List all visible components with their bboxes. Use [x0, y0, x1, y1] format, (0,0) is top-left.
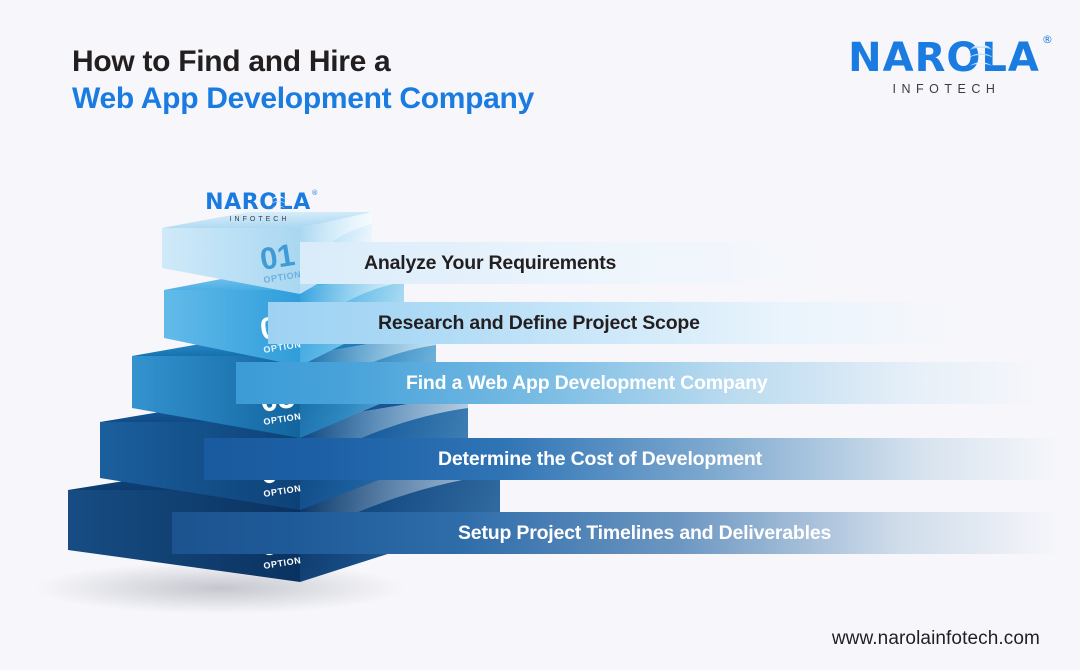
brand-logo-tagline: INFOTECH	[840, 82, 1048, 96]
footer-website-url: www.narolainfotech.com	[832, 628, 1040, 650]
step-ribbon-05: Setup Project Timelines and Deliverables	[172, 512, 1080, 554]
pyramid-brand-logo: NAROLA ® INFOTECH	[197, 192, 319, 223]
step-title-03: Find a Web App Development Company	[406, 372, 768, 395]
brand-logo-name: NAROLA	[848, 35, 1040, 81]
pyramid-brand-tagline: INFOTECH	[197, 216, 319, 223]
page-title: How to Find and Hire a Web App Developme…	[72, 44, 534, 117]
step-title-02: Research and Define Project Scope	[378, 312, 700, 335]
step-title-01: Analyze Your Requirements	[364, 252, 616, 275]
pyramid-brand-wordmark: NAROLA ®	[205, 192, 311, 214]
step-ribbon-02: Research and Define Project Scope	[268, 302, 1080, 344]
brand-logo: NAROLA ® INFOTECH	[840, 38, 1048, 96]
step-title-04: Determine the Cost of Development	[438, 448, 762, 471]
step-ribbon-04: Determine the Cost of Development	[204, 438, 1080, 480]
page-title-line-2: Web App Development Company	[72, 81, 534, 118]
brand-logo-wordmark: NAROLA ®	[848, 38, 1040, 78]
pyramid-brand-name: NAROLA	[205, 190, 311, 215]
step-ribbon-01: Analyze Your Requirements	[300, 242, 1080, 284]
page-title-line-1: How to Find and Hire a	[72, 44, 534, 81]
step-title-05: Setup Project Timelines and Deliverables	[458, 522, 831, 545]
registered-trademark-icon: ®	[1042, 34, 1054, 45]
pyramid-registered-trademark-icon: ®	[311, 190, 319, 197]
step-ribbon-03: Find a Web App Development Company	[236, 362, 1080, 404]
